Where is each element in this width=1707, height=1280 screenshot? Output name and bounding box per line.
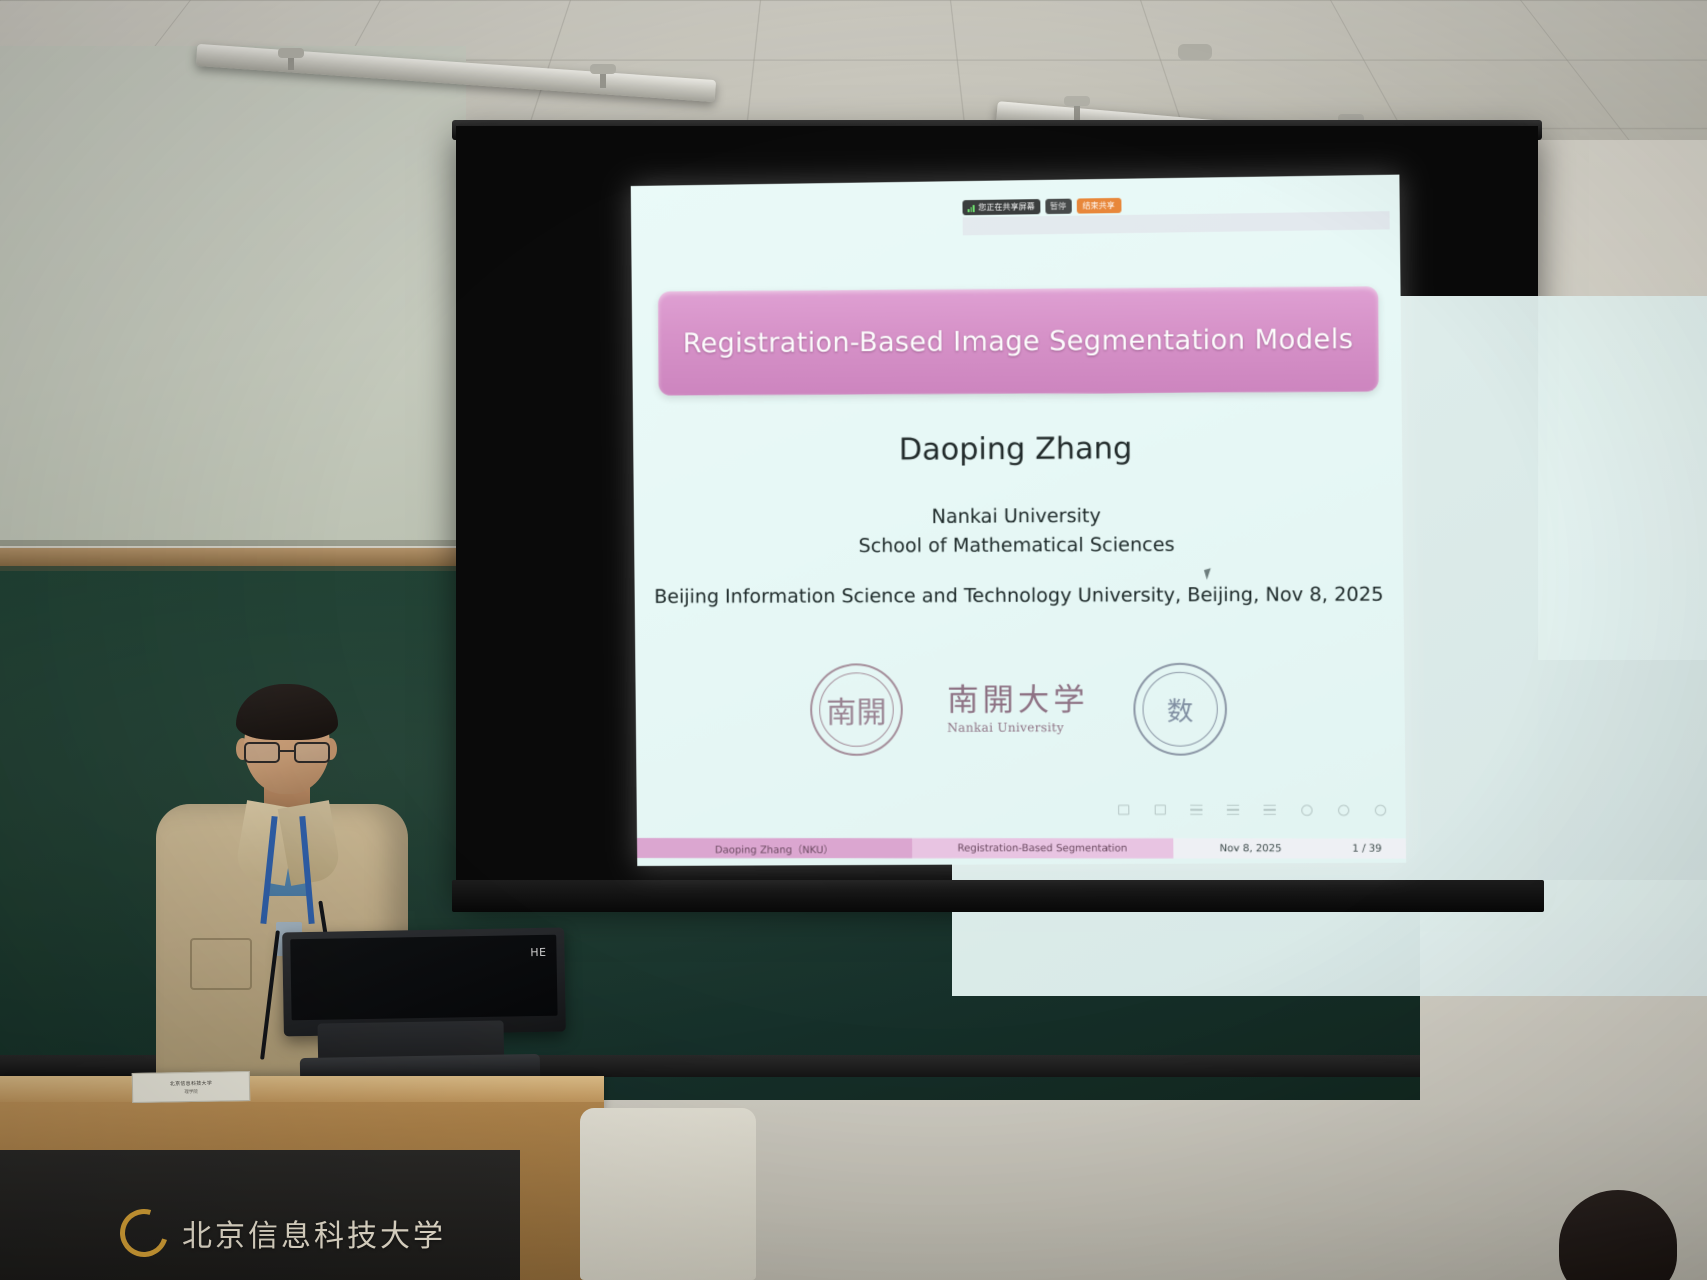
align-icon[interactable]: [1189, 803, 1203, 817]
presenter-glasses-icon: [242, 742, 334, 764]
projected-slide: 您正在共享屏幕 暂停 结束共享 Registration-Based Image…: [631, 175, 1406, 866]
nameplate-line-1: 北京信息科技大学: [170, 1079, 213, 1087]
glasses-lens-right: [294, 742, 330, 763]
nankai-name-en: Nankai University: [947, 720, 1089, 734]
page-fit-icon[interactable]: [1116, 803, 1130, 817]
nankai-seal-icon: 南開: [810, 663, 903, 755]
footer-short-title: Registration-Based Segmentation: [912, 838, 1174, 858]
list-icon[interactable]: [1226, 803, 1240, 817]
share-status-text: 您正在共享屏幕: [978, 201, 1035, 213]
presenter-pocket-left: [190, 938, 252, 990]
presenter-hair: [236, 684, 338, 740]
math-seal-glyph: 数: [1167, 691, 1194, 728]
bottom-banner-text: 北京信息科技大学: [182, 1211, 446, 1255]
footer-date: Nov 8, 2025: [1173, 838, 1328, 858]
slide-venue: Beijing Information Science and Technolo…: [635, 583, 1404, 608]
pause-share-button[interactable]: 暂停: [1045, 199, 1071, 214]
zoom-in-icon[interactable]: [1373, 803, 1387, 817]
left-wall-panel: [0, 46, 466, 546]
signal-bars-icon: [968, 204, 975, 212]
screen-bottom-bar: [452, 880, 1544, 912]
affiliation-line-2: School of Mathematical Sciences: [634, 529, 1403, 561]
monitor-screen: [290, 935, 557, 1021]
screen-share-banner: 您正在共享屏幕 暂停 结束共享: [962, 197, 1121, 216]
zoom-out-icon[interactable]: [1336, 803, 1350, 817]
slide-logo-row: 南開 南開大学 Nankai University 数: [636, 662, 1405, 756]
monitor-brand-label: HE: [530, 946, 546, 959]
slide-title: Registration-Based Image Segmentation Mo…: [683, 323, 1354, 358]
podium-nameplate: 北京信息科技大学 理学院: [132, 1071, 251, 1103]
nameplate-line-2: 理学院: [184, 1088, 198, 1094]
stop-share-button[interactable]: 结束共享: [1076, 198, 1121, 214]
nankai-wordmark: 南開大学 Nankai University: [947, 685, 1089, 735]
glasses-lens-left: [244, 742, 280, 763]
mouse-cursor: [1204, 568, 1214, 580]
slide-canvas: 您正在共享屏幕 暂停 结束共享 Registration-Based Image…: [631, 175, 1406, 866]
math-school-seal-icon: 数: [1133, 663, 1227, 756]
footer-author: Daoping Zhang（NKU）: [637, 838, 912, 858]
outline-icon[interactable]: [1263, 803, 1277, 817]
lecture-hall-scene: 您正在共享屏幕 暂停 结束共享 Registration-Based Image…: [0, 0, 1707, 1280]
bottom-banner: 北京信息科技大学: [120, 1186, 540, 1280]
ceiling-speaker: [1178, 44, 1212, 60]
rotate-icon[interactable]: [1153, 803, 1167, 817]
light-cap-left-b: [590, 64, 616, 74]
slide-footer: Daoping Zhang（NKU） Registration-Based Se…: [637, 838, 1406, 859]
podium-monitor: HE: [282, 928, 566, 1037]
rotate-ccw-icon[interactable]: [1299, 803, 1313, 817]
nankai-seal-glyph: 南開: [826, 688, 887, 732]
ring-logo-icon: [112, 1201, 177, 1266]
share-status-pill: 您正在共享屏幕: [962, 199, 1039, 215]
footer-page-number: 1 / 39: [1328, 838, 1406, 858]
affiliation-line-1: Nankai University: [634, 500, 1403, 532]
slide-author: Daoping Zhang: [633, 430, 1402, 469]
podium-top-surface: [0, 1076, 604, 1102]
slide-affiliation: Nankai University School of Mathematical…: [634, 500, 1403, 561]
light-cap-left-a: [278, 48, 304, 58]
light-cap-right-a: [1064, 96, 1090, 106]
chair: [580, 1108, 756, 1280]
pdf-toolbar[interactable]: [1116, 803, 1387, 817]
slide-title-bar: Registration-Based Image Segmentation Mo…: [658, 286, 1379, 395]
nankai-name-cn: 南開大学: [947, 685, 1089, 716]
